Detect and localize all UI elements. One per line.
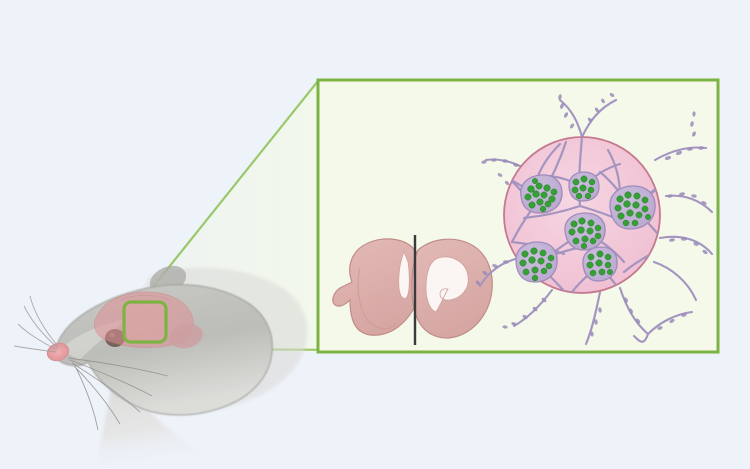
neuron-soma xyxy=(569,172,599,201)
callout-panel[interactable] xyxy=(318,80,718,352)
neuron-soma xyxy=(521,175,562,213)
illustration-svg xyxy=(0,0,750,469)
neuron-soma xyxy=(565,213,605,250)
protein-aggregates xyxy=(587,251,613,276)
neuron-soma xyxy=(516,242,557,282)
neuron-soma xyxy=(583,247,617,281)
neuron-soma xyxy=(610,186,655,229)
brain-roi-square[interactable] xyxy=(124,302,166,342)
figure-canvas: Modeling Frontotemporal Dementia Using M… xyxy=(0,0,750,469)
